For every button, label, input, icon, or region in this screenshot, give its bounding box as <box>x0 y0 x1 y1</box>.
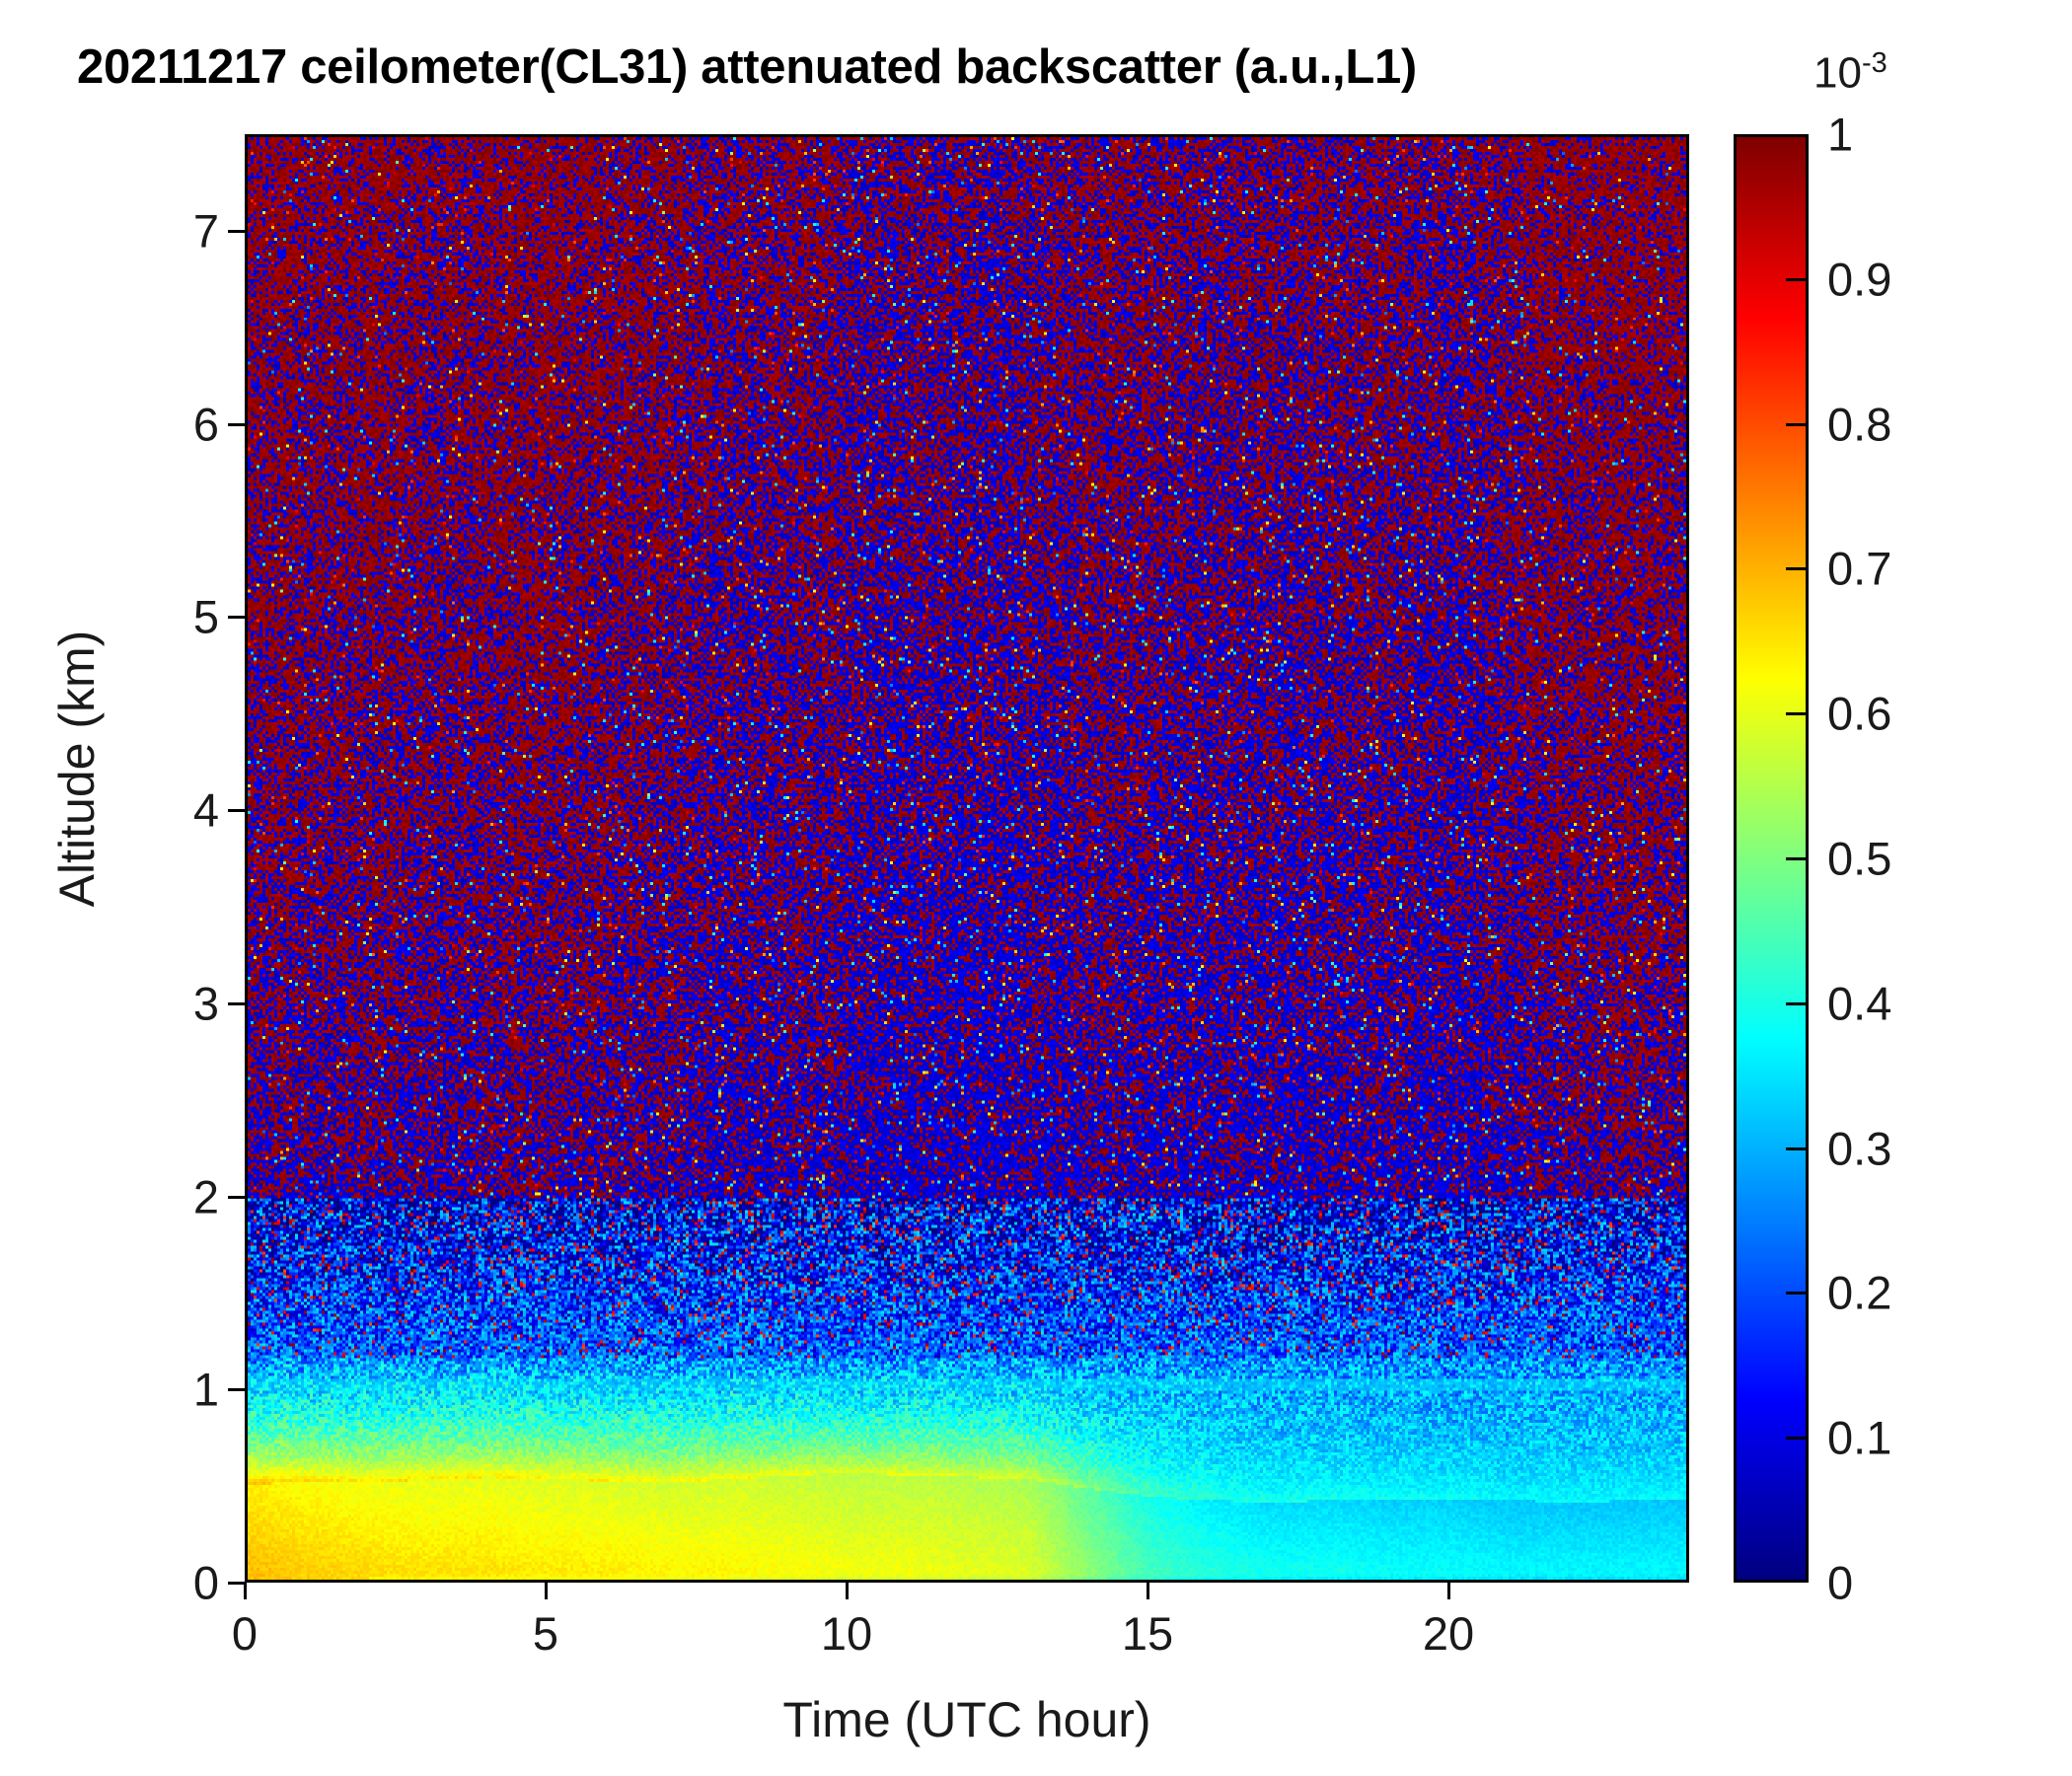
colorbar-tick-label: 0.1 <box>1827 1411 1891 1465</box>
x-tick-label: 15 <box>1122 1606 1173 1661</box>
colorbar-tick-mark <box>1786 857 1807 860</box>
x-tick-mark <box>1147 1583 1149 1599</box>
x-tick-label: 5 <box>533 1606 558 1661</box>
colorbar-tick-label: 0.7 <box>1827 542 1891 596</box>
colorbar-tick-mark <box>1786 1147 1807 1150</box>
x-tick-label: 0 <box>232 1606 258 1661</box>
colorbar-tick-label: 0.2 <box>1827 1266 1891 1320</box>
colorbar-tick-label: 0.6 <box>1827 687 1891 741</box>
y-tick-label: 6 <box>51 397 219 451</box>
colorbar-tick-label: 0.9 <box>1827 252 1891 306</box>
y-tick-mark <box>228 1196 245 1199</box>
colorbar-tick-label: 0.3 <box>1827 1121 1891 1175</box>
colorbar-multiplier-base: 10 <box>1813 49 1862 98</box>
colorbar-tick-label: 1 <box>1827 108 1853 162</box>
y-tick-mark <box>228 230 245 233</box>
x-tick-mark <box>244 1583 247 1599</box>
x-axis-title: Time (UTC hour) <box>245 1691 1689 1748</box>
colorbar-tick-label: 0.4 <box>1827 976 1891 1030</box>
x-tick-mark <box>1447 1583 1450 1599</box>
colorbar-tick-mark <box>1786 712 1807 715</box>
heatmap-image <box>248 137 1689 1583</box>
y-tick-mark <box>228 809 245 812</box>
colorbar-multiplier-exponent: -3 <box>1862 47 1887 79</box>
colorbar-multiplier-label: 10-3 <box>1813 47 1887 99</box>
colorbar-tick-mark <box>1786 1292 1807 1295</box>
heatmap-plot-area[interactable] <box>245 134 1689 1583</box>
figure-canvas: 20211217 ceilometer(CL31) attenuated bac… <box>0 0 2072 1776</box>
x-tick-mark <box>545 1583 548 1599</box>
colorbar-tick-mark <box>1786 278 1807 281</box>
y-tick-mark <box>228 1388 245 1391</box>
y-tick-mark <box>228 616 245 619</box>
colorbar-tick-mark <box>1786 567 1807 570</box>
figure-title: 20211217 ceilometer(CL31) attenuated bac… <box>77 39 1417 95</box>
colorbar-tick-label: 0.5 <box>1827 832 1891 886</box>
colorbar-tick-label: 0 <box>1827 1556 1853 1610</box>
colorbar-tick-mark <box>1786 1437 1807 1440</box>
y-tick-label: 1 <box>51 1363 219 1417</box>
y-tick-label: 2 <box>51 1169 219 1223</box>
y-axis-title: Altitude (km) <box>48 512 106 1025</box>
y-tick-mark <box>228 1582 245 1585</box>
y-tick-label: 7 <box>51 203 219 258</box>
x-tick-label: 20 <box>1423 1606 1474 1661</box>
x-tick-mark <box>846 1583 849 1599</box>
y-tick-mark <box>228 1002 245 1005</box>
colorbar-tick-mark <box>1786 1002 1807 1005</box>
colorbar-tick-label: 0.8 <box>1827 397 1891 451</box>
y-tick-mark <box>228 423 245 426</box>
x-tick-label: 10 <box>821 1606 872 1661</box>
y-tick-label: 0 <box>51 1556 219 1610</box>
colorbar-tick-mark <box>1786 423 1807 426</box>
